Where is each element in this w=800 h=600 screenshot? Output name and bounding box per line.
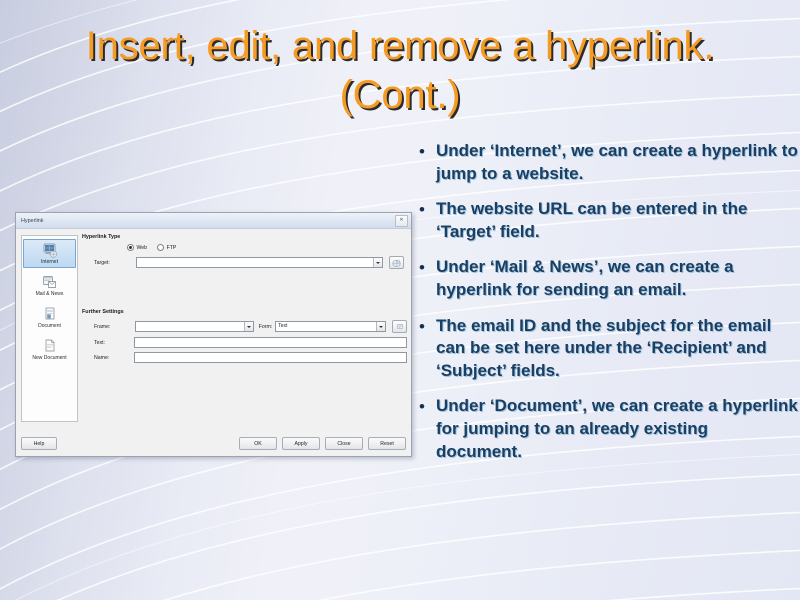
document-icon: [41, 307, 58, 322]
bullet-text: Under ‘Internet’, we can create a hyperl…: [436, 140, 798, 185]
apply-button[interactable]: Apply: [282, 437, 320, 450]
radio-ftp-indicator: [157, 244, 164, 251]
form-value: Text: [276, 322, 376, 331]
name-input[interactable]: [134, 352, 407, 363]
name-value: [135, 352, 137, 359]
form-input[interactable]: Text: [275, 321, 386, 332]
bullet-item: • The website URL can be entered in the …: [408, 198, 798, 243]
text-value: [135, 337, 137, 344]
name-row: Name:: [82, 352, 407, 363]
config-icon[interactable]: [392, 320, 407, 333]
bullet-text: The website URL can be entered in the ‘T…: [436, 198, 798, 243]
bullet-marker-icon: •: [408, 140, 436, 163]
target-input[interactable]: [136, 257, 383, 268]
bullet-item: • Under ‘Internet’, we can create a hype…: [408, 140, 798, 185]
sidebar-item-internet[interactable]: Internet: [23, 239, 76, 268]
sidebar-item-new-document[interactable]: New Document: [23, 335, 76, 364]
bullet-text: The email ID and the subject for the ema…: [436, 315, 798, 383]
bullet-text: Under ‘Mail & News’, we can create a hyp…: [436, 256, 798, 301]
help-button[interactable]: Help: [21, 437, 57, 450]
sidebar-item-label: Mail & News: [24, 291, 75, 297]
frame-value: [136, 322, 244, 331]
sidebar-item-document[interactable]: Document: [23, 303, 76, 332]
chevron-down-icon[interactable]: [244, 322, 253, 331]
internet-icon: [41, 243, 58, 258]
bullet-marker-icon: •: [408, 198, 436, 221]
radio-ftp[interactable]: FTP: [157, 244, 176, 251]
further-settings-group-label: Further Settings: [82, 309, 407, 315]
form-label: Form:: [259, 324, 273, 330]
dialog-body: Internet Mail & News: [16, 229, 411, 455]
close-icon[interactable]: ✕: [395, 215, 408, 227]
ok-button[interactable]: OK: [239, 437, 277, 450]
frame-input[interactable]: [135, 321, 254, 332]
frame-row: Frame: Form: Text: [82, 320, 407, 333]
bullet-marker-icon: •: [408, 315, 436, 338]
hyperlink-type-radio-group: Web FTP: [127, 244, 407, 251]
hyperlink-dialog-image: Hyperlink ✕: [15, 212, 412, 457]
dialog-footer: Help OK Apply Close Reset: [21, 437, 406, 450]
radio-web[interactable]: Web: [127, 244, 147, 251]
text-input[interactable]: [134, 337, 407, 348]
chevron-down-icon[interactable]: [373, 258, 382, 267]
reset-button[interactable]: Reset: [368, 437, 406, 450]
bullet-text: Under ‘Document’, we can create a hyperl…: [436, 395, 798, 463]
mail-news-icon: [41, 275, 58, 290]
target-label: Target:: [82, 260, 136, 266]
radio-web-indicator: [127, 244, 134, 251]
sidebar-item-label: Internet: [24, 259, 75, 265]
bullet-list: • Under ‘Internet’, we can create a hype…: [408, 140, 798, 476]
target-row: Target:: [82, 256, 407, 269]
slide-canvas: Insert, edit, and remove a hyperlink. (C…: [0, 0, 800, 600]
text-row: Text:: [82, 337, 407, 348]
dialog-content-pane: Hyperlink Type Web FTP Target:: [82, 234, 407, 453]
bullet-marker-icon: •: [408, 256, 436, 279]
dialog-action-buttons: OK Apply Close Reset: [239, 437, 406, 450]
bullet-marker-icon: •: [408, 395, 436, 418]
bullet-item: • Under ‘Mail & News’, we can create a h…: [408, 256, 798, 301]
chevron-down-icon[interactable]: [376, 322, 385, 331]
sidebar-item-label: Document: [24, 323, 75, 329]
new-document-icon: [41, 339, 58, 354]
text-label: Text:: [82, 340, 134, 346]
dialog-titlebar: Hyperlink ✕: [16, 213, 411, 229]
sidebar-item-label: New Document: [24, 355, 75, 361]
radio-ftp-label: FTP: [167, 245, 177, 251]
slide-title: Insert, edit, and remove a hyperlink. (C…: [60, 22, 740, 120]
dialog-sidebar: Internet Mail & News: [21, 235, 78, 422]
hyperlink-type-group-label: Hyperlink Type: [82, 234, 407, 240]
dialog-title: Hyperlink: [21, 218, 43, 224]
radio-web-label: Web: [137, 245, 148, 251]
bullet-item: • Under ‘Document’, we can create a hype…: [408, 395, 798, 463]
sidebar-item-mail-news[interactable]: Mail & News: [23, 271, 76, 300]
browse-icon[interactable]: [389, 256, 404, 269]
frame-label: Frame:: [82, 324, 135, 330]
name-label: Name:: [82, 355, 134, 361]
bullet-item: • The email ID and the subject for the e…: [408, 315, 798, 383]
target-value: [137, 258, 373, 267]
close-button[interactable]: Close: [325, 437, 363, 450]
